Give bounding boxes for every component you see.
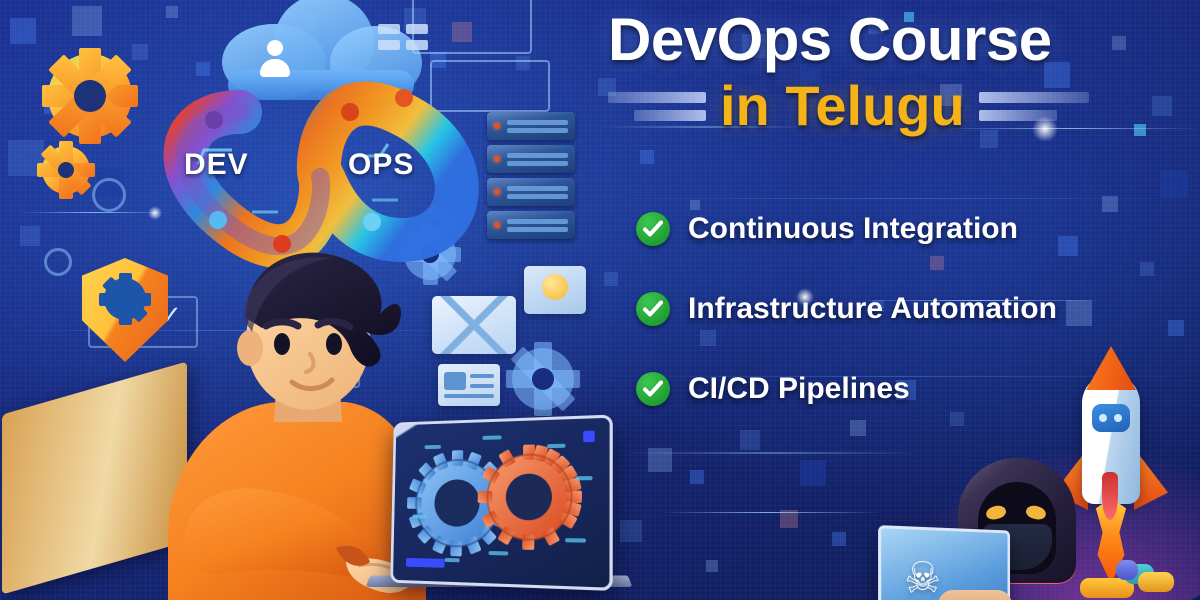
image-icon (524, 266, 586, 314)
devops-course-banner: ✓ (0, 0, 1200, 600)
title-decoration-right (979, 92, 1089, 121)
skull-icon: ☠ (904, 556, 941, 600)
title-subtitle: in Telugu (720, 77, 965, 136)
list-item: Infrastructure Automation (636, 292, 1057, 326)
list-item: CI/CD Pipelines (636, 372, 1057, 406)
check-circle-icon (636, 212, 670, 246)
feature-label: CI/CD Pipelines (688, 372, 910, 406)
title-decoration-left (608, 92, 706, 121)
infinity-right-label: OPS (348, 148, 414, 182)
feature-label: Continuous Integration (688, 212, 1018, 246)
gear-icon (48, 54, 132, 138)
database-stack-icon (1080, 556, 1176, 600)
server-rack-icon (487, 112, 575, 242)
gear-icon (92, 178, 126, 212)
feature-list: Continuous Integration Infrastructure Au… (636, 212, 1057, 406)
list-item: Continuous Integration (636, 212, 1057, 246)
hacker-laptop: ☠ (878, 525, 1010, 600)
gear-icon (512, 348, 574, 410)
check-circle-icon (636, 292, 670, 326)
check-circle-icon (636, 372, 670, 406)
gear-icon (44, 248, 72, 276)
feature-label: Infrastructure Automation (688, 292, 1057, 326)
laptop (384, 418, 610, 586)
title-main: DevOps Course (608, 8, 1188, 71)
gear-icon (42, 146, 90, 194)
infinity-left-label: DEV (184, 148, 249, 182)
banner-title-block: DevOps Course in Telugu (608, 8, 1188, 136)
